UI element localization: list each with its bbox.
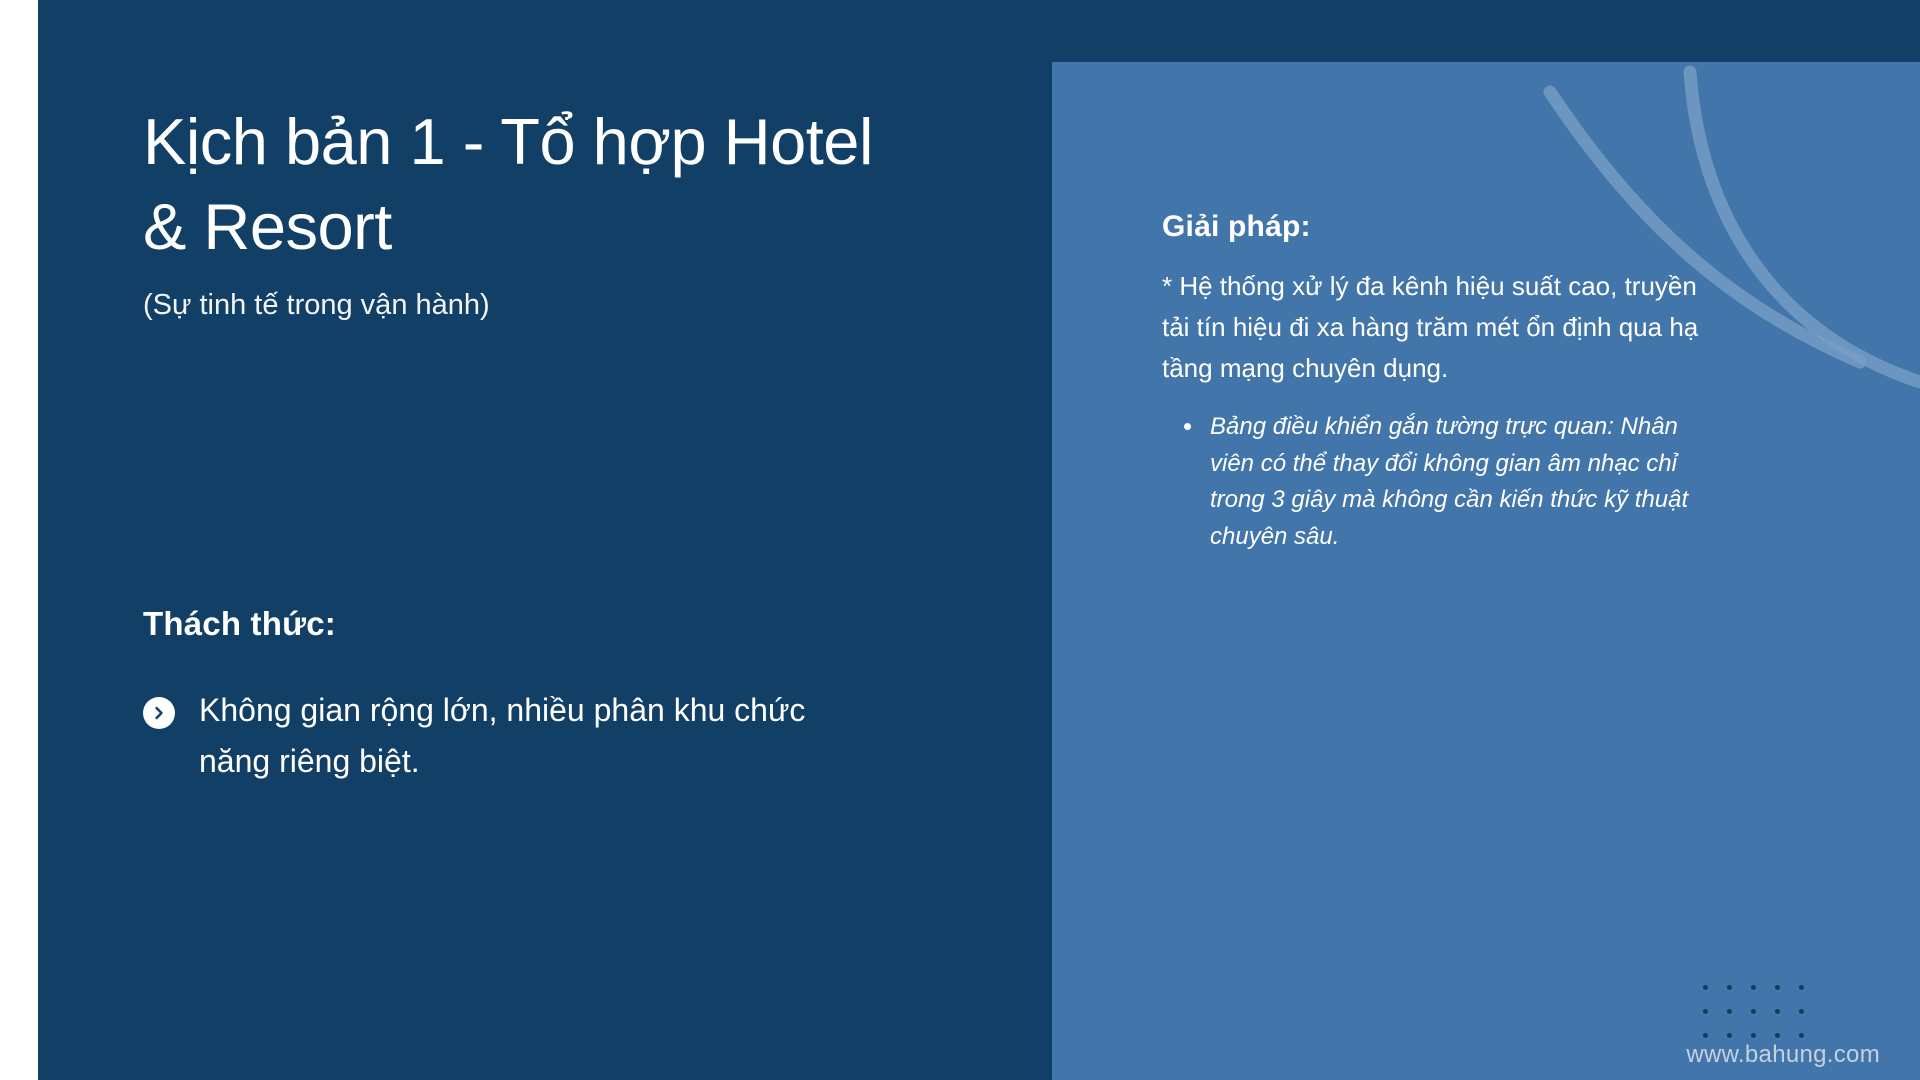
challenge-heading: Thách thức:: [143, 605, 863, 643]
chevron-right-icon: [143, 697, 175, 729]
solution-paragraph: * Hệ thống xử lý đa kênh hiệu suất cao, …: [1162, 266, 1722, 389]
challenge-section: Thách thức: Không gian rộng lớn, nhiều p…: [143, 605, 863, 786]
footer-website-url: www.bahung.com: [1430, 1041, 1880, 1069]
list-item: Không gian rộng lớn, nhiều phân khu chức…: [143, 685, 863, 786]
page-subtitle: (Sự tinh tế trong vận hành): [143, 287, 933, 325]
solution-heading: Giải pháp:: [1162, 210, 1722, 244]
slide-canvas: Kịch bản 1 - Tổ hợp Hotel & Resort (Sự t…: [0, 0, 1920, 1080]
challenge-list: Không gian rộng lớn, nhiều phân khu chức…: [143, 685, 863, 786]
challenge-item-text: Không gian rộng lớn, nhiều phân khu chức…: [199, 685, 863, 786]
solution-section: Giải pháp: * Hệ thống xử lý đa kênh hiệu…: [1162, 210, 1722, 555]
list-item: Bảng điều khiển gắn tường trực quan: Nhâ…: [1210, 409, 1722, 555]
solution-sublist: Bảng điều khiển gắn tường trực quan: Nhâ…: [1162, 409, 1722, 555]
title-block: Kịch bản 1 - Tổ hợp Hotel & Resort (Sự t…: [143, 100, 933, 325]
page-title: Kịch bản 1 - Tổ hợp Hotel & Resort: [143, 100, 933, 269]
